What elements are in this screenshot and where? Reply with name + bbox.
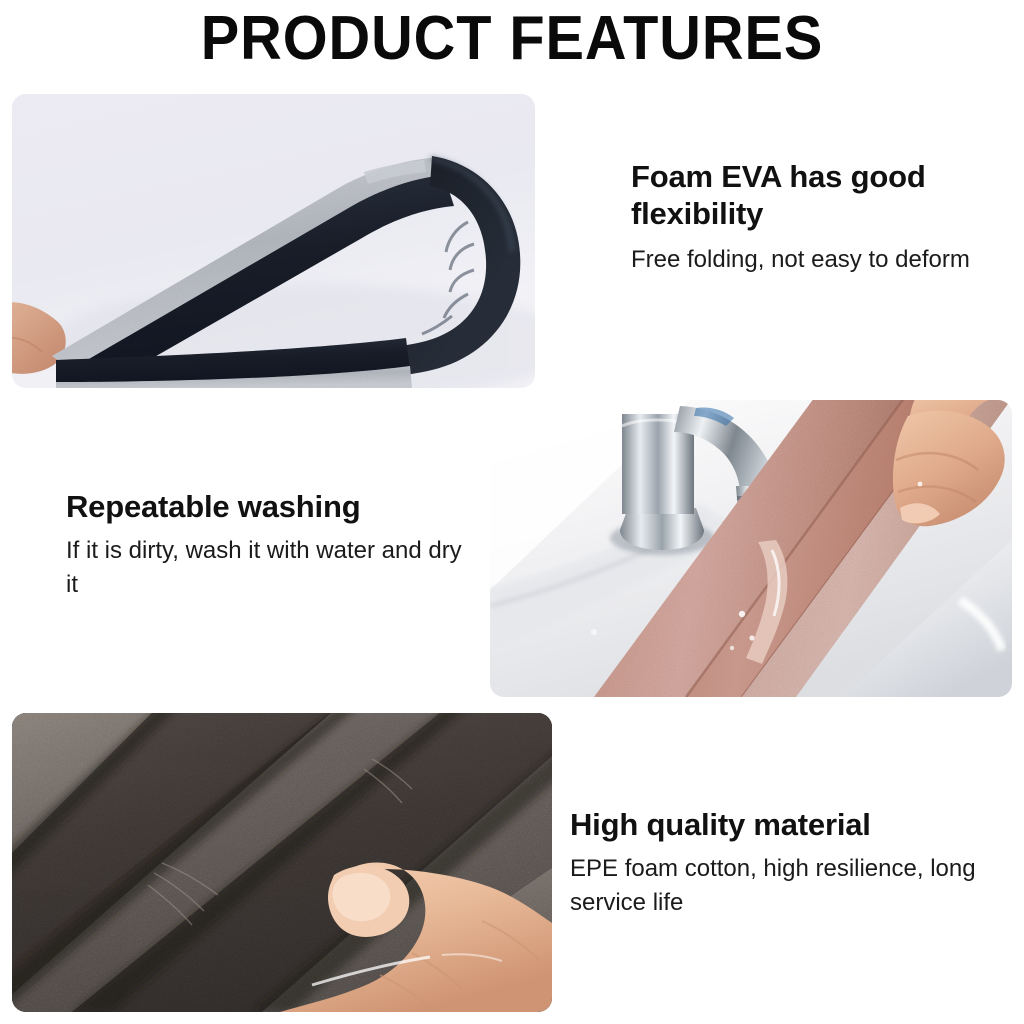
folded-dark-foam-strip-photo bbox=[12, 94, 535, 388]
feature-block-high-quality-material: High quality material EPE foam cotton, h… bbox=[570, 806, 1000, 920]
feature-body: If it is dirty, wash it with water and d… bbox=[66, 534, 466, 602]
washing-foam-under-faucet-photo bbox=[490, 400, 1012, 697]
image-panel-foam-flexibility bbox=[12, 94, 535, 388]
image-panel-repeatable-washing bbox=[490, 400, 1012, 697]
feature-heading: Foam EVA has good flexibility bbox=[631, 158, 986, 232]
image-panel-high-quality-material bbox=[12, 713, 552, 1012]
feature-block-repeatable-washing: Repeatable washing If it is dirty, wash … bbox=[66, 488, 466, 602]
infographic-canvas: PRODUCT FEATURES bbox=[0, 0, 1024, 1024]
epe-foam-texture-photo bbox=[12, 713, 552, 1012]
feature-heading: High quality material bbox=[570, 806, 1000, 843]
page-title: PRODUCT FEATURES bbox=[36, 8, 988, 70]
feature-block-foam-eva-flexibility: Foam EVA has good flexibility Free foldi… bbox=[631, 158, 986, 277]
feature-body: EPE foam cotton, high resilience, long s… bbox=[570, 852, 1000, 920]
feature-body: Free folding, not easy to deform bbox=[631, 243, 986, 277]
feature-heading: Repeatable washing bbox=[66, 488, 466, 525]
